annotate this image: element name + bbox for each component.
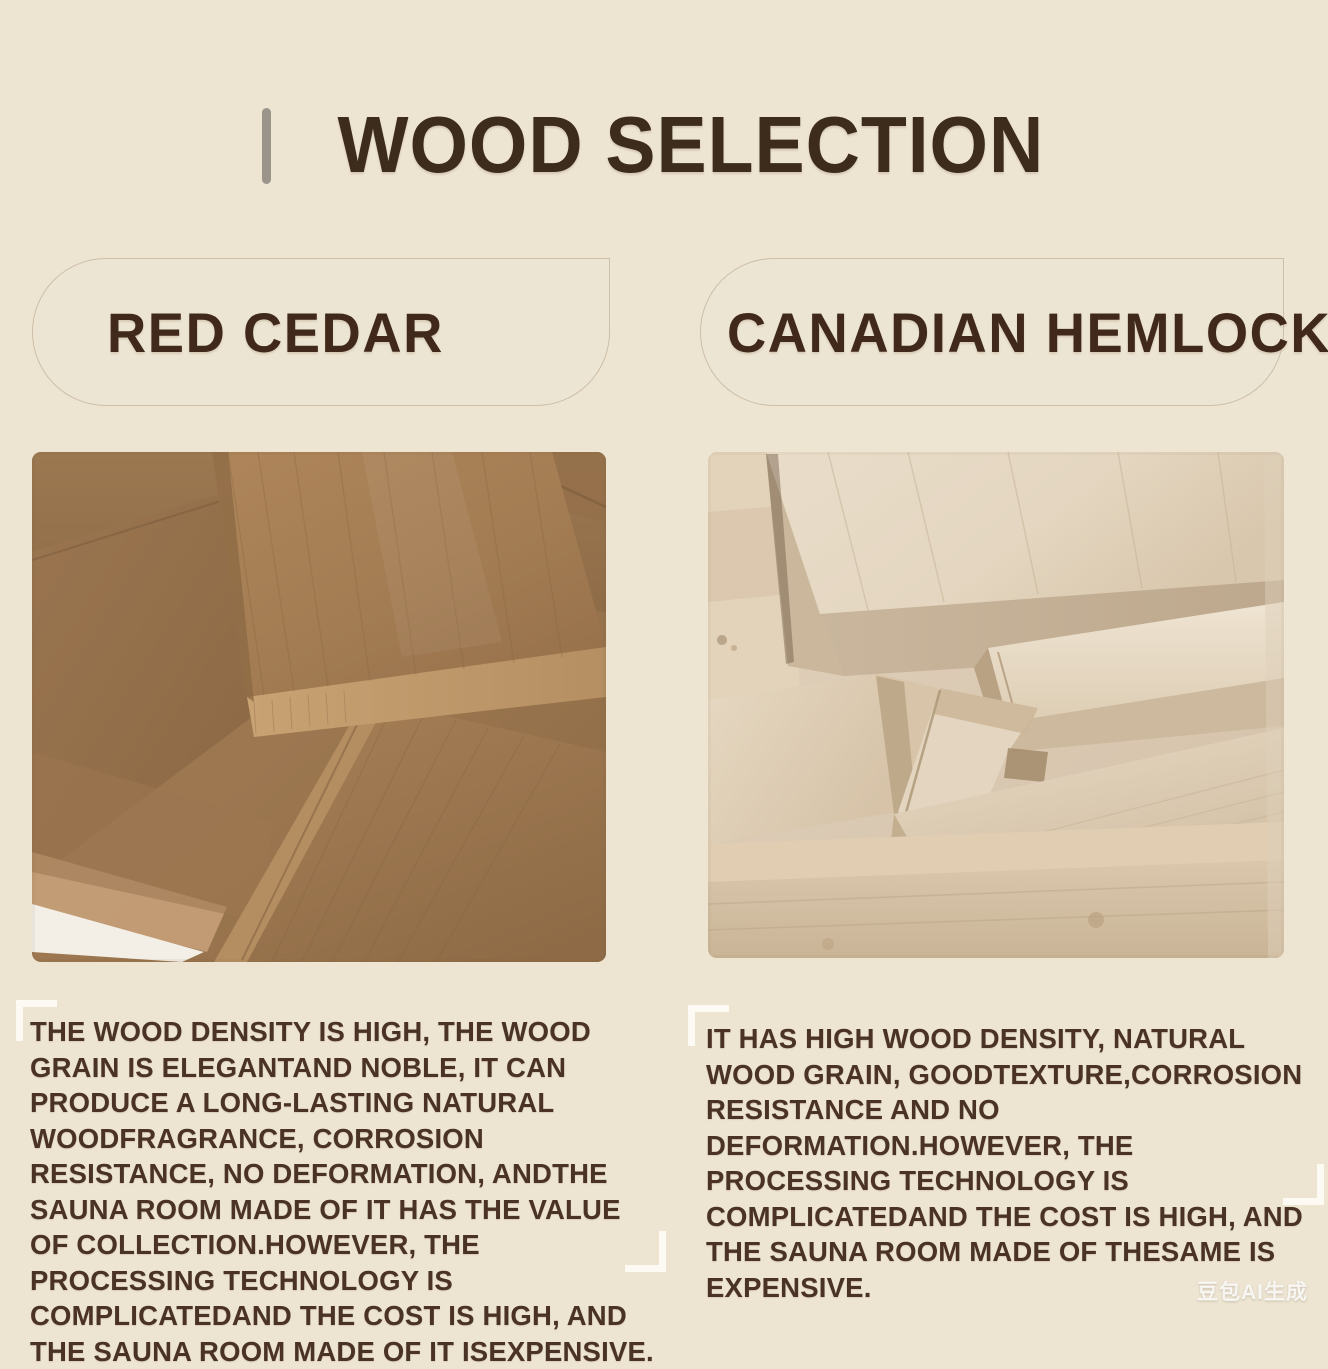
infographic-page: WOOD SELECTION RED CEDAR CANADIAN HEMLOC… [0,0,1328,1328]
canadian-hemlock-description-text: IT HAS HIGH WOOD DENSITY, NATURAL WOOD G… [706,1021,1324,1305]
page-title-row: WOOD SELECTION [0,96,1328,194]
red-cedar-description-block: THE WOOD DENSITY IS HIGH, THE WOOD GRAIN… [16,1000,666,1272]
ai-watermark: 豆包AI生成 [1197,1276,1308,1306]
tab-canadian-hemlock[interactable]: CANADIAN HEMLOCK [700,258,1284,406]
wood-type-tabs: RED CEDAR CANADIAN HEMLOCK [0,258,1328,406]
tab-red-cedar[interactable]: RED CEDAR [32,258,610,406]
page-title: WOOD SELECTION [337,103,1044,187]
title-accent-bar [262,108,271,184]
tab-canadian-hemlock-label: CANADIAN HEMLOCK [727,300,1328,365]
canadian-hemlock-photo [708,452,1284,958]
red-cedar-photo [32,452,606,962]
tab-red-cedar-label: RED CEDAR [107,300,444,365]
canadian-hemlock-description-block: IT HAS HIGH WOOD DENSITY, NATURAL WOOD G… [688,1005,1324,1205]
red-cedar-photo-art [32,452,606,962]
canadian-hemlock-photo-art [708,452,1284,958]
red-cedar-description-text: THE WOOD DENSITY IS HIGH, THE WOOD GRAIN… [30,1014,666,1369]
